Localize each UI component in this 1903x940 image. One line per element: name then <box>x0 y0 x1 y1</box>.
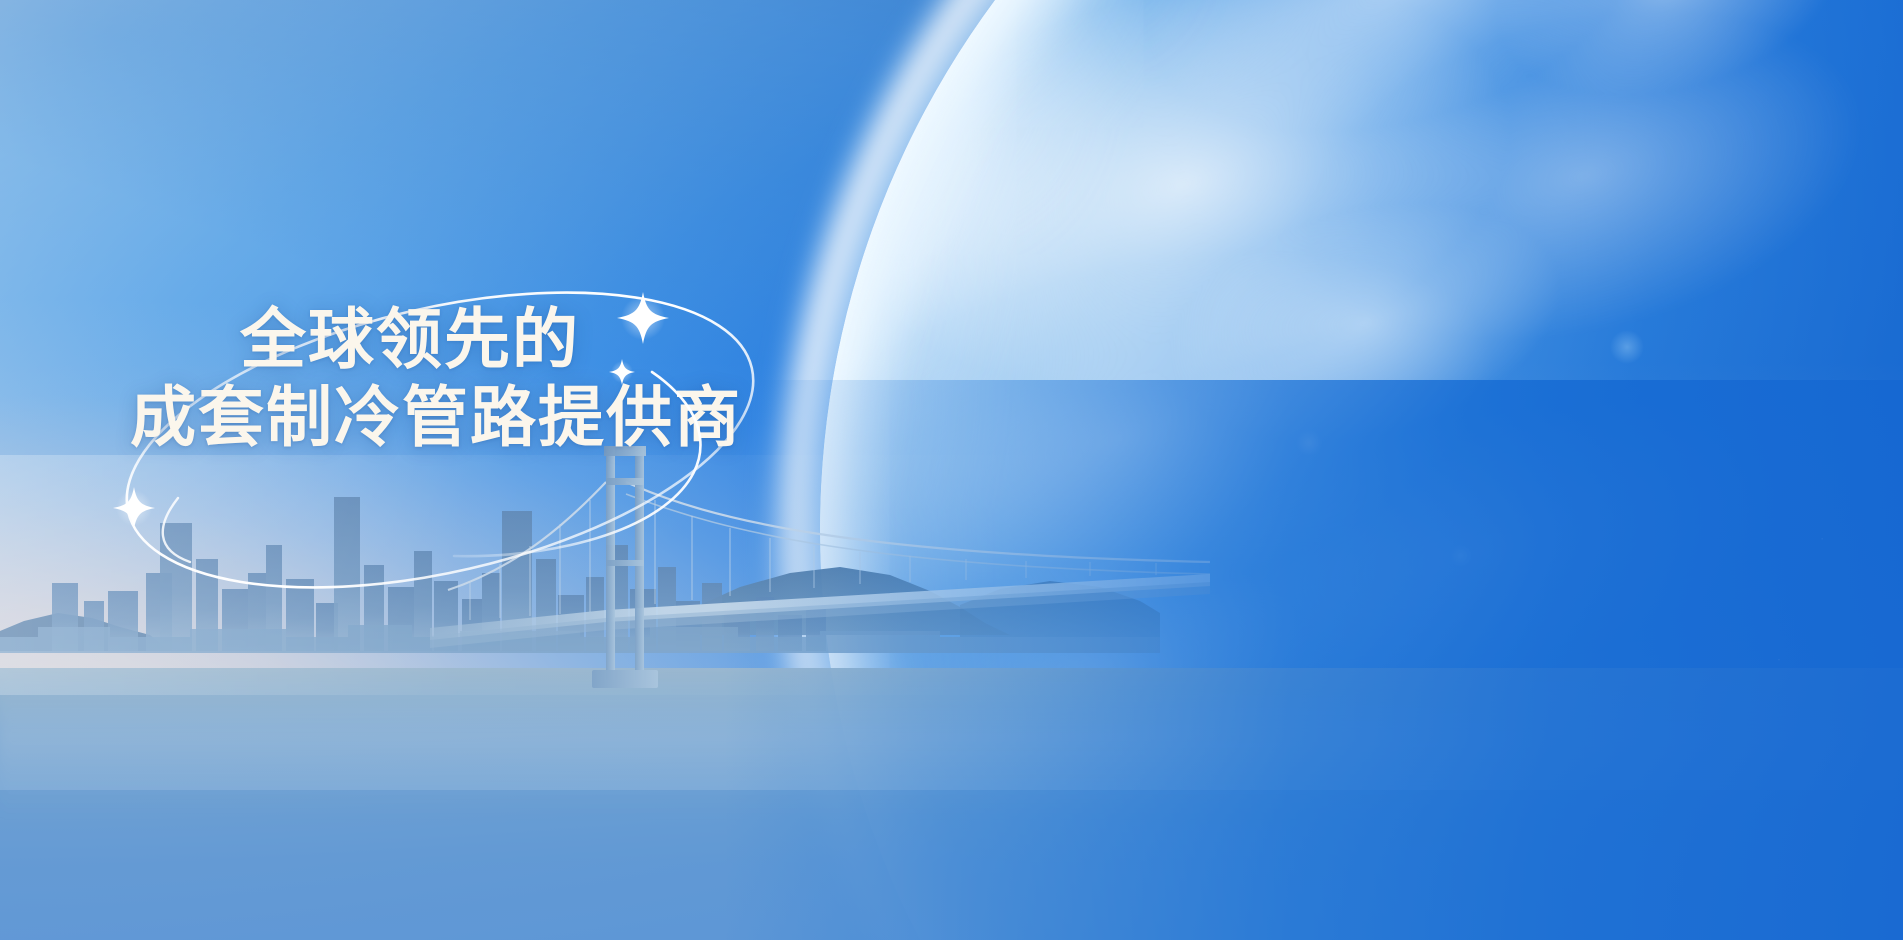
suspension-bridge-silhouette <box>430 442 1210 722</box>
headline-block: 全球领先的 成套制冷管路提供商 <box>130 300 742 456</box>
hero-banner: 全球领先的 成套制冷管路提供商 <box>0 0 1903 940</box>
headline-line-1: 全球领先的 <box>130 300 742 378</box>
headline-line-2: 成套制冷管路提供商 <box>130 378 742 456</box>
